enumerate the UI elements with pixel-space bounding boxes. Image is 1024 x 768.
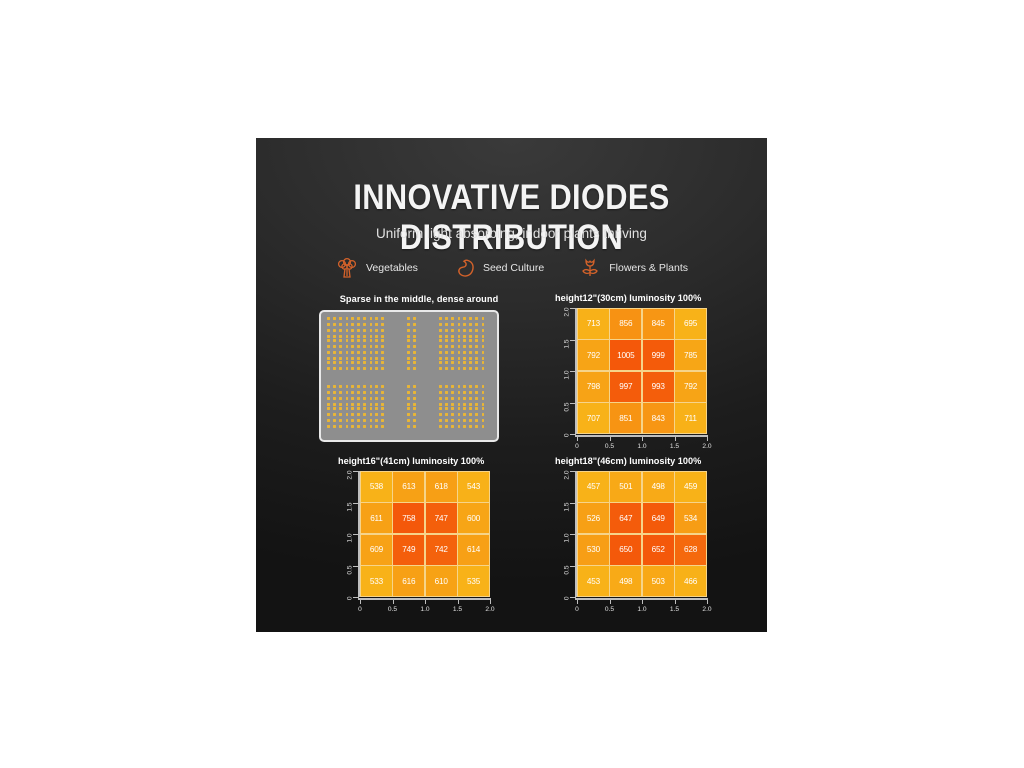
diode-dot bbox=[469, 419, 472, 422]
diode-dot bbox=[463, 385, 466, 388]
y-axis-tick bbox=[570, 566, 576, 567]
diode-dot bbox=[346, 419, 349, 422]
diode-dot bbox=[482, 397, 485, 400]
diode-dot bbox=[445, 335, 448, 338]
y-axis-tick bbox=[353, 471, 359, 472]
diode-dot bbox=[339, 335, 342, 338]
diode-dot bbox=[469, 339, 472, 342]
diode-dot bbox=[375, 413, 378, 416]
diode-dot bbox=[413, 339, 416, 342]
diode-dot bbox=[458, 425, 461, 428]
diode-dot bbox=[407, 361, 410, 364]
y-axis-label: 1.0 bbox=[347, 534, 354, 558]
heatmap-cell: 628 bbox=[675, 535, 706, 565]
diode-dot bbox=[346, 413, 349, 416]
diode-dot bbox=[346, 329, 349, 332]
diode-dot bbox=[370, 351, 373, 354]
diode-dot bbox=[445, 407, 448, 410]
diode-dot bbox=[363, 317, 366, 320]
diode-dot bbox=[346, 345, 349, 348]
diode-dot bbox=[357, 367, 360, 370]
diode-dot bbox=[327, 317, 330, 320]
diode-dot bbox=[346, 367, 349, 370]
y-axis-tick bbox=[353, 503, 359, 504]
diode-dot bbox=[363, 357, 366, 360]
y-axis-tick bbox=[570, 403, 576, 404]
x-axis-label: 0 bbox=[358, 606, 362, 613]
diode-dot bbox=[381, 317, 384, 320]
diode-dot bbox=[370, 385, 373, 388]
x-axis-tick bbox=[610, 435, 611, 441]
diode-dot bbox=[363, 413, 366, 416]
diode-dot bbox=[439, 339, 442, 342]
heatmap-cell: 695 bbox=[675, 309, 706, 339]
diode-dot bbox=[458, 419, 461, 422]
heatmap-cell: 534 bbox=[675, 503, 706, 533]
diode-dot bbox=[381, 403, 384, 406]
diode-dot bbox=[327, 397, 330, 400]
diode-dot bbox=[463, 403, 466, 406]
diode-dot bbox=[357, 339, 360, 342]
x-axis-tick bbox=[577, 598, 578, 604]
y-axis-tick bbox=[570, 471, 576, 472]
y-axis-label: 1.5 bbox=[564, 502, 571, 526]
diode-dot bbox=[482, 345, 485, 348]
diode-dot bbox=[413, 317, 416, 320]
diode-dot bbox=[333, 391, 336, 394]
diode-dot bbox=[339, 357, 342, 360]
diode-dot bbox=[445, 351, 448, 354]
diode-dot bbox=[458, 317, 461, 320]
diode-dot bbox=[375, 339, 378, 342]
y-axis-tick bbox=[570, 597, 576, 598]
diode-dot bbox=[463, 419, 466, 422]
page-subtitle: Uniform light absorbing, indoor plants t… bbox=[256, 226, 767, 241]
heatmap-cell: 1005 bbox=[610, 340, 641, 370]
diode-dot bbox=[413, 385, 416, 388]
x-axis-tick bbox=[490, 598, 491, 604]
diode-dot bbox=[339, 351, 342, 354]
diode-dot bbox=[375, 335, 378, 338]
diode-dot bbox=[327, 391, 330, 394]
diode-dot bbox=[482, 339, 485, 342]
heatmap-chart-height12: height12"(30cm) luminosity 100% 71385684… bbox=[555, 293, 715, 453]
diode-dot bbox=[346, 323, 349, 326]
diode-dot bbox=[469, 403, 472, 406]
diode-dot bbox=[363, 339, 366, 342]
diode-dot bbox=[407, 345, 410, 348]
diode-dot bbox=[413, 323, 416, 326]
diode-dot bbox=[451, 361, 454, 364]
diode-dot bbox=[357, 361, 360, 364]
diode-dot bbox=[370, 361, 373, 364]
diode-dot bbox=[357, 385, 360, 388]
diode-dot bbox=[327, 413, 330, 416]
diode-dot bbox=[463, 317, 466, 320]
chart-plot-area: 5386136185436117587476006097497426145336… bbox=[360, 471, 490, 597]
diode-dot bbox=[351, 317, 354, 320]
diode-dot bbox=[333, 367, 336, 370]
diode-dot bbox=[370, 391, 373, 394]
heatmap-cell: 614 bbox=[458, 535, 489, 565]
diode-dot bbox=[482, 425, 485, 428]
diode-dot bbox=[333, 413, 336, 416]
diode-dot bbox=[413, 367, 416, 370]
y-axis-tick bbox=[353, 566, 359, 567]
heatmap-cell: 543 bbox=[458, 472, 489, 502]
x-axis-tick bbox=[458, 598, 459, 604]
diode-dot bbox=[451, 351, 454, 354]
diode-dot bbox=[333, 419, 336, 422]
diode-dot bbox=[451, 367, 454, 370]
heatmap-cell: 749 bbox=[393, 535, 424, 565]
diode-dot bbox=[339, 345, 342, 348]
diode-dot bbox=[458, 361, 461, 364]
diode-dot bbox=[469, 361, 472, 364]
diode-dot bbox=[475, 329, 478, 332]
diode-dot bbox=[439, 403, 442, 406]
heatmap-cell: 498 bbox=[610, 566, 641, 596]
feature-item-vegetables: Vegetables bbox=[335, 256, 418, 280]
diode-dot bbox=[351, 345, 354, 348]
heatmap-cell: 459 bbox=[675, 472, 706, 502]
diode-dot bbox=[469, 397, 472, 400]
diode-dot bbox=[458, 413, 461, 416]
diode-dot bbox=[451, 385, 454, 388]
diode-dot bbox=[351, 385, 354, 388]
diode-dot bbox=[458, 323, 461, 326]
diode-dot bbox=[375, 397, 378, 400]
diode-dot bbox=[475, 345, 478, 348]
diode-dot bbox=[363, 351, 366, 354]
diode-dot bbox=[339, 329, 342, 332]
diode-dot bbox=[439, 345, 442, 348]
diode-dot bbox=[458, 351, 461, 354]
diode-dot bbox=[475, 351, 478, 354]
diode-dot bbox=[413, 397, 416, 400]
heatmap-cell: 503 bbox=[643, 566, 674, 596]
diode-dot bbox=[375, 419, 378, 422]
x-axis-tick bbox=[577, 435, 578, 441]
diode-dot bbox=[346, 407, 349, 410]
diode-dot bbox=[445, 329, 448, 332]
diode-dot bbox=[469, 317, 472, 320]
diode-dot bbox=[407, 397, 410, 400]
diode-dot bbox=[407, 391, 410, 394]
diode-dot bbox=[346, 335, 349, 338]
diode-dot bbox=[339, 317, 342, 320]
x-axis-tick bbox=[642, 598, 643, 604]
diode-dot bbox=[451, 419, 454, 422]
diode-dot bbox=[339, 403, 342, 406]
heatmap-cell: 652 bbox=[643, 535, 674, 565]
diode-dot bbox=[346, 339, 349, 342]
diode-dot bbox=[357, 323, 360, 326]
diode-dot bbox=[381, 425, 384, 428]
diode-dot bbox=[357, 403, 360, 406]
diode-dot bbox=[370, 403, 373, 406]
diode-dot bbox=[375, 361, 378, 364]
chart-plot-area: 4575014984595266476495345306506526284534… bbox=[577, 471, 707, 597]
diode-dot bbox=[381, 419, 384, 422]
diode-dot bbox=[439, 367, 442, 370]
feature-list: Vegetables Seed Culture bbox=[256, 256, 767, 280]
diode-dot bbox=[370, 397, 373, 400]
diode-dot bbox=[451, 335, 454, 338]
heatmap-cell: 538 bbox=[361, 472, 392, 502]
y-axis-tick bbox=[570, 340, 576, 341]
diode-dot bbox=[381, 345, 384, 348]
diode-dot bbox=[375, 323, 378, 326]
diode-dot bbox=[339, 419, 342, 422]
diode-dot bbox=[439, 335, 442, 338]
diode-dot bbox=[482, 391, 485, 394]
diode-dot bbox=[370, 345, 373, 348]
diode-dot bbox=[407, 425, 410, 428]
diode-dot bbox=[475, 323, 478, 326]
diode-dot bbox=[458, 339, 461, 342]
diode-dot bbox=[463, 345, 466, 348]
diode-dot bbox=[357, 335, 360, 338]
x-axis-tick bbox=[360, 598, 361, 604]
diode-dot bbox=[469, 425, 472, 428]
vegetables-icon bbox=[335, 256, 359, 280]
diode-dot bbox=[381, 351, 384, 354]
diode-dot bbox=[463, 351, 466, 354]
diode-dot bbox=[407, 351, 410, 354]
heatmap-cell: 843 bbox=[643, 403, 674, 433]
y-axis-tick bbox=[353, 597, 359, 598]
diode-dot bbox=[381, 391, 384, 394]
diode-dot bbox=[381, 385, 384, 388]
diode-dot bbox=[445, 391, 448, 394]
heatmap-cell: 711 bbox=[675, 403, 706, 433]
diode-dot bbox=[351, 329, 354, 332]
x-axis bbox=[358, 598, 490, 600]
diode-dot bbox=[445, 397, 448, 400]
diode-dot bbox=[475, 403, 478, 406]
diode-dot bbox=[339, 413, 342, 416]
diode-dot bbox=[451, 357, 454, 360]
diode-dot bbox=[451, 339, 454, 342]
diode-dot bbox=[463, 413, 466, 416]
x-axis bbox=[575, 435, 707, 437]
diode-dot bbox=[469, 413, 472, 416]
diode-dot bbox=[327, 329, 330, 332]
diode-dot bbox=[346, 385, 349, 388]
diode-dot bbox=[370, 329, 373, 332]
y-axis-label: 1.5 bbox=[564, 339, 571, 363]
diode-dot bbox=[463, 425, 466, 428]
diode-dot bbox=[463, 361, 466, 364]
diode-dot bbox=[475, 367, 478, 370]
diode-dot bbox=[363, 385, 366, 388]
diode-dot bbox=[482, 323, 485, 326]
diode-dot bbox=[351, 357, 354, 360]
diode-dot bbox=[451, 397, 454, 400]
y-axis-tick bbox=[570, 434, 576, 435]
diode-dot bbox=[445, 345, 448, 348]
diode-dot bbox=[469, 357, 472, 360]
y-axis-label: 0 bbox=[564, 434, 571, 458]
x-axis-tick bbox=[425, 598, 426, 604]
diode-dot bbox=[346, 361, 349, 364]
diode-dot bbox=[370, 367, 373, 370]
heatmap-cell: 747 bbox=[426, 503, 457, 533]
heatmap-cell: 611 bbox=[361, 503, 392, 533]
diode-dot bbox=[375, 351, 378, 354]
diode-dot bbox=[445, 367, 448, 370]
diode-dot bbox=[339, 385, 342, 388]
diode-dot bbox=[482, 419, 485, 422]
y-axis-tick bbox=[353, 534, 359, 535]
diode-dot bbox=[351, 425, 354, 428]
heatmap-chart-height16: height16"(41cm) luminosity 100% 53861361… bbox=[338, 456, 498, 616]
heatmap-cell: 530 bbox=[578, 535, 609, 565]
heatmap-cell: 466 bbox=[675, 566, 706, 596]
diode-dot bbox=[381, 323, 384, 326]
diode-dot bbox=[463, 329, 466, 332]
diode-dot bbox=[381, 397, 384, 400]
x-axis-label: 0.5 bbox=[388, 606, 397, 613]
diode-dot bbox=[357, 413, 360, 416]
diode-dot bbox=[407, 335, 410, 338]
feature-item-flowers-plants: Flowers & Plants bbox=[578, 256, 688, 280]
diode-dot bbox=[469, 407, 472, 410]
diode-dot bbox=[351, 361, 354, 364]
diode-dot bbox=[463, 357, 466, 360]
diode-dot bbox=[451, 317, 454, 320]
diode-dot bbox=[381, 357, 384, 360]
heatmap-grid: 4575014984595266476495345306506526284534… bbox=[577, 471, 707, 597]
heatmap-cell: 742 bbox=[426, 535, 457, 565]
diode-dot bbox=[351, 391, 354, 394]
diode-dot bbox=[413, 407, 416, 410]
diode-dot bbox=[451, 425, 454, 428]
heatmap-cell: 993 bbox=[643, 372, 674, 402]
diode-dot bbox=[333, 357, 336, 360]
diode-dot bbox=[327, 335, 330, 338]
y-axis-label: 1.0 bbox=[564, 371, 571, 395]
diode-dot bbox=[407, 403, 410, 406]
y-axis-tick bbox=[570, 503, 576, 504]
heatmap-cell: 851 bbox=[610, 403, 641, 433]
heatmap-cell: 616 bbox=[393, 566, 424, 596]
diode-dot bbox=[469, 323, 472, 326]
diode-dot bbox=[445, 339, 448, 342]
x-axis-tick bbox=[707, 598, 708, 604]
x-axis-tick bbox=[675, 598, 676, 604]
diode-dot bbox=[458, 345, 461, 348]
diode-dot bbox=[475, 391, 478, 394]
diode-dot bbox=[363, 419, 366, 422]
diode-dot bbox=[339, 323, 342, 326]
diode-dot bbox=[327, 361, 330, 364]
diode-dot bbox=[439, 391, 442, 394]
x-axis-label: 1.5 bbox=[670, 443, 679, 450]
chart-plot-area: 7138568456957921005999785798997993792707… bbox=[577, 308, 707, 434]
diode-dot bbox=[413, 335, 416, 338]
diode-dot bbox=[482, 329, 485, 332]
diode-dot bbox=[327, 367, 330, 370]
diode-dot bbox=[381, 407, 384, 410]
diode-dot bbox=[357, 407, 360, 410]
x-axis-label: 2.0 bbox=[702, 443, 711, 450]
diode-dot bbox=[413, 345, 416, 348]
diode-dot bbox=[370, 419, 373, 422]
diode-dot bbox=[333, 351, 336, 354]
diode-dot bbox=[407, 357, 410, 360]
diode-dot bbox=[439, 425, 442, 428]
diode-dot bbox=[469, 345, 472, 348]
heatmap-cell: 649 bbox=[643, 503, 674, 533]
diode-dot bbox=[327, 419, 330, 422]
diode-dot bbox=[407, 317, 410, 320]
diode-dot bbox=[413, 391, 416, 394]
diode-dot bbox=[407, 413, 410, 416]
diode-dot bbox=[445, 403, 448, 406]
diode-dot bbox=[363, 329, 366, 332]
diode-dot bbox=[463, 367, 466, 370]
chart-title: height16"(41cm) luminosity 100% bbox=[338, 456, 484, 466]
diode-dot bbox=[363, 407, 366, 410]
diode-dot bbox=[333, 403, 336, 406]
diode-dot bbox=[363, 335, 366, 338]
x-axis-tick bbox=[610, 598, 611, 604]
diode-dot bbox=[370, 323, 373, 326]
diode-dot bbox=[357, 397, 360, 400]
diode-dot bbox=[375, 407, 378, 410]
diode-dot bbox=[327, 339, 330, 342]
x-axis-label: 1.0 bbox=[637, 443, 646, 450]
diode-dot bbox=[458, 407, 461, 410]
x-axis-label: 1.5 bbox=[453, 606, 462, 613]
diode-dot bbox=[407, 329, 410, 332]
promo-panel: INNOVATIVE DIODES DISTRIBUTION Uniform l… bbox=[256, 138, 767, 632]
diode-dot bbox=[451, 345, 454, 348]
heatmap-cell: 792 bbox=[675, 372, 706, 402]
diode-dot bbox=[439, 397, 442, 400]
diode-dot bbox=[375, 385, 378, 388]
diode-dot bbox=[370, 413, 373, 416]
diode-dot bbox=[451, 407, 454, 410]
diode-dot bbox=[482, 357, 485, 360]
heatmap-cell: 997 bbox=[610, 372, 641, 402]
heatmap-cell: 845 bbox=[643, 309, 674, 339]
diode-dot bbox=[458, 391, 461, 394]
diode-dot bbox=[346, 403, 349, 406]
heatmap-cell: 999 bbox=[643, 340, 674, 370]
diode-dot bbox=[357, 351, 360, 354]
heatmap-cell: 600 bbox=[458, 503, 489, 533]
heatmap-cell: 707 bbox=[578, 403, 609, 433]
y-axis-label: 0.5 bbox=[564, 565, 571, 589]
diode-dot bbox=[351, 403, 354, 406]
heatmap-cell: 798 bbox=[578, 372, 609, 402]
diode-dot bbox=[346, 425, 349, 428]
diode-dot bbox=[381, 361, 384, 364]
feature-item-seed-culture: Seed Culture bbox=[452, 256, 544, 280]
diode-dot bbox=[482, 317, 485, 320]
diode-dot bbox=[475, 413, 478, 416]
diode-dot bbox=[458, 403, 461, 406]
diode-dot bbox=[439, 413, 442, 416]
x-axis-label: 2.0 bbox=[702, 606, 711, 613]
diode-dot bbox=[413, 357, 416, 360]
x-axis-label: 1.0 bbox=[420, 606, 429, 613]
diode-dot bbox=[370, 317, 373, 320]
diode-dot bbox=[445, 385, 448, 388]
